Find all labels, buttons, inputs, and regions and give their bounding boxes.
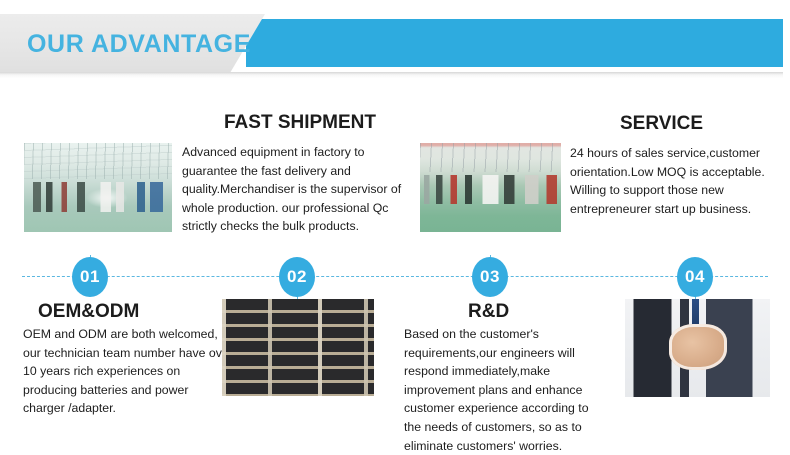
- timeline-step-03-number: 03: [480, 267, 500, 287]
- timeline-step-03[interactable]: 03: [472, 257, 508, 297]
- service-body: 24 hours of sales service,customer orien…: [570, 144, 780, 218]
- factory-production-line-photo: [24, 143, 172, 232]
- fast-shipment-body: Advanced equipment in factory to guarant…: [182, 143, 404, 236]
- banner-drop-shadow: [0, 72, 783, 78]
- timeline-step-01[interactable]: 01: [72, 257, 108, 297]
- timeline-step-04[interactable]: 04: [677, 257, 713, 297]
- business-handshake-photo: [625, 299, 770, 397]
- factory-floor-photo: [420, 143, 561, 232]
- process-timeline: 01 02 03 04: [0, 275, 790, 279]
- oem-odm-title: OEM&ODM: [38, 301, 139, 323]
- banner-accent-bar: [246, 19, 783, 67]
- fast-shipment-title: FAST SHIPMENT: [224, 112, 376, 134]
- oem-odm-body: OEM and ODM are both welcomed, our techn…: [23, 325, 233, 418]
- timeline-dashed-line: [22, 276, 768, 277]
- timeline-step-01-number: 01: [80, 267, 100, 287]
- handshake-necktie: [692, 299, 699, 326]
- rd-title: R&D: [468, 301, 509, 323]
- page-title: OUR ADVANTAGE: [27, 30, 251, 59]
- page-header-banner: OUR ADVANTAGE: [0, 14, 790, 74]
- timeline-step-02-number: 02: [287, 267, 307, 287]
- battery-warehouse-shelves-photo: [222, 299, 374, 396]
- timeline-step-02[interactable]: 02: [279, 257, 315, 297]
- timeline-step-04-number: 04: [685, 267, 705, 287]
- service-title: SERVICE: [620, 113, 703, 135]
- rd-body: Based on the customer's requirements,our…: [404, 325, 609, 455]
